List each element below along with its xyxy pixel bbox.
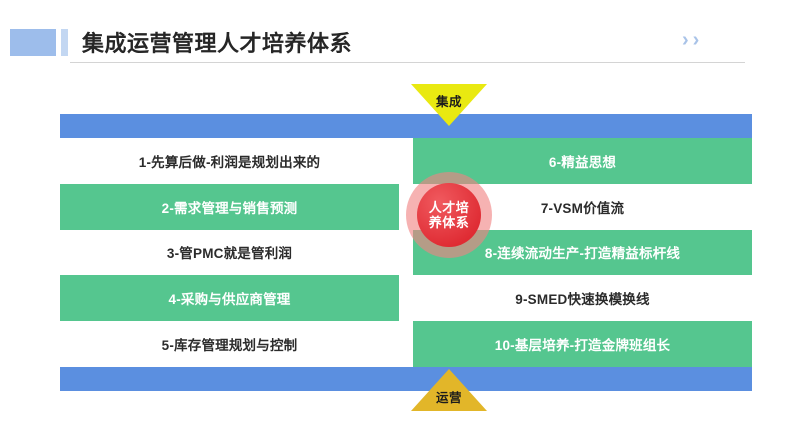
diagram-bottom-bar [60, 367, 752, 391]
course-cell-right-5[interactable]: 10-基层培养-打造金牌班组长 [413, 321, 752, 367]
center-badge-line-1: 人才培 [429, 200, 470, 215]
diagram-top-bar [60, 114, 752, 138]
center-badge-line-2: 养体系 [429, 215, 470, 230]
course-cell-left-5[interactable]: 5-库存管理规划与控制 [60, 321, 399, 367]
top-triangle-label: 集成 [436, 91, 462, 110]
top-triangle-marker: 集成 [411, 84, 487, 126]
course-cell-left-2[interactable]: 2-需求管理与销售预测 [60, 184, 399, 230]
course-cell-left-3[interactable]: 3-管PMC就是管利润 [60, 230, 399, 276]
center-badge: 人才培 养体系 [406, 172, 492, 258]
bottom-triangle-label: 运营 [436, 387, 462, 406]
column-gap [399, 275, 413, 321]
column-gap [399, 138, 413, 184]
header-accent-block-small [61, 29, 68, 56]
column-gap [399, 321, 413, 367]
header-divider [70, 62, 745, 63]
training-system-diagram: 1-先算后做-利润是规划出来的 6-精益思想 2-需求管理与销售预测 7-VSM… [60, 114, 752, 391]
double-chevron-right-icon[interactable]: ›› [682, 30, 703, 50]
page-header: 集成运营管理人才培养体系 ›› [0, 0, 800, 78]
bottom-triangle-marker: 运营 [411, 369, 487, 411]
page-title: 集成运营管理人才培养体系 [82, 26, 352, 58]
header-accent-block-large [10, 29, 56, 56]
course-cell-left-1[interactable]: 1-先算后做-利润是规划出来的 [60, 138, 399, 184]
course-cell-right-4[interactable]: 9-SMED快速换模换线 [413, 275, 752, 321]
course-cell-left-4[interactable]: 4-采购与供应商管理 [60, 275, 399, 321]
center-badge-core: 人才培 养体系 [417, 183, 481, 247]
course-grid: 1-先算后做-利润是规划出来的 6-精益思想 2-需求管理与销售预测 7-VSM… [60, 138, 752, 367]
